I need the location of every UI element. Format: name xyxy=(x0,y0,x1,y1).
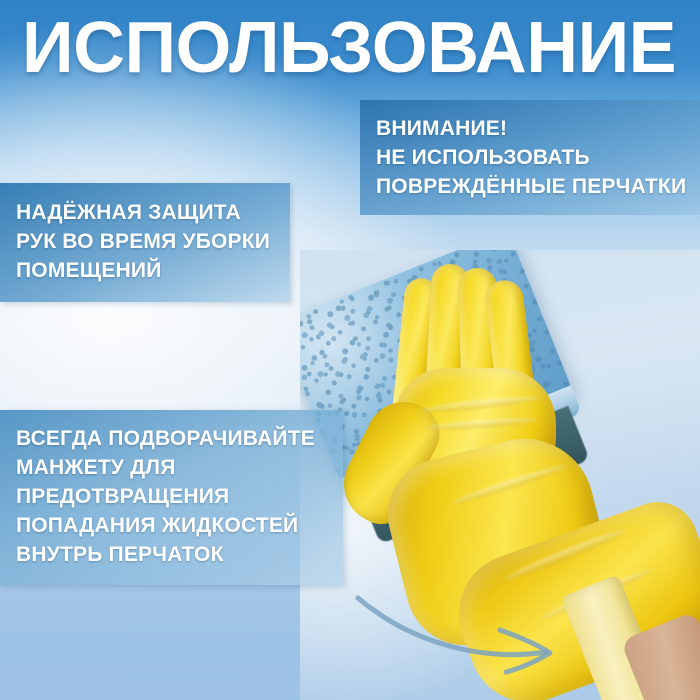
panel-cuff-line-3: ПРЕДОТВРАЩЕНИЯ xyxy=(16,482,333,511)
panel-cuff-instruction: ВСЕГДА ПОДВОРАЧИВАЙТЕ МАНЖЕТУ ДЛЯ ПРЕДОТ… xyxy=(0,410,343,585)
curved-arrow-icon xyxy=(350,580,600,680)
panel-cuff-line-5: ВНУТРЬ ПЕРЧАТОК xyxy=(16,540,333,569)
panel-warning-line-3: ПОВРЕЖДЁННЫЕ ПЕРЧАТКИ xyxy=(376,172,690,201)
panel-warning-line-2: НЕ ИСПОЛЬЗОВАТЬ xyxy=(376,143,690,172)
panel-protection-line-2: РУК ВО ВРЕМЯ УБОРКИ xyxy=(16,227,280,256)
panel-warning: ВНИМАНИЕ! НЕ ИСПОЛЬЗОВАТЬ ПОВРЕЖДЁННЫЕ П… xyxy=(360,100,700,215)
panel-cuff-line-2: МАНЖЕТУ ДЛЯ xyxy=(16,453,333,482)
panel-cuff-line-4: ПОПАДАНИЯ ЖИДКОСТЕЙ xyxy=(16,511,333,540)
poster-canvas: ИСПОЛЬЗОВАНИЕ ВНИМАНИЕ! НЕ ИСПОЛЬЗОВАТЬ … xyxy=(0,0,700,700)
panel-protection-line-3: ПОМЕЩЕНИЙ xyxy=(16,256,280,285)
panel-protection: НАДЁЖНАЯ ЗАЩИТА РУК ВО ВРЕМЯ УБОРКИ ПОМЕ… xyxy=(0,183,290,302)
page-title: ИСПОЛЬЗОВАНИЕ xyxy=(22,8,688,88)
panel-warning-line-1: ВНИМАНИЕ! xyxy=(376,114,690,143)
panel-protection-line-1: НАДЁЖНАЯ ЗАЩИТА xyxy=(16,198,280,227)
glove-sponge-photo xyxy=(300,250,700,700)
panel-cuff-line-1: ВСЕГДА ПОДВОРАЧИВАЙТЕ xyxy=(16,424,333,453)
